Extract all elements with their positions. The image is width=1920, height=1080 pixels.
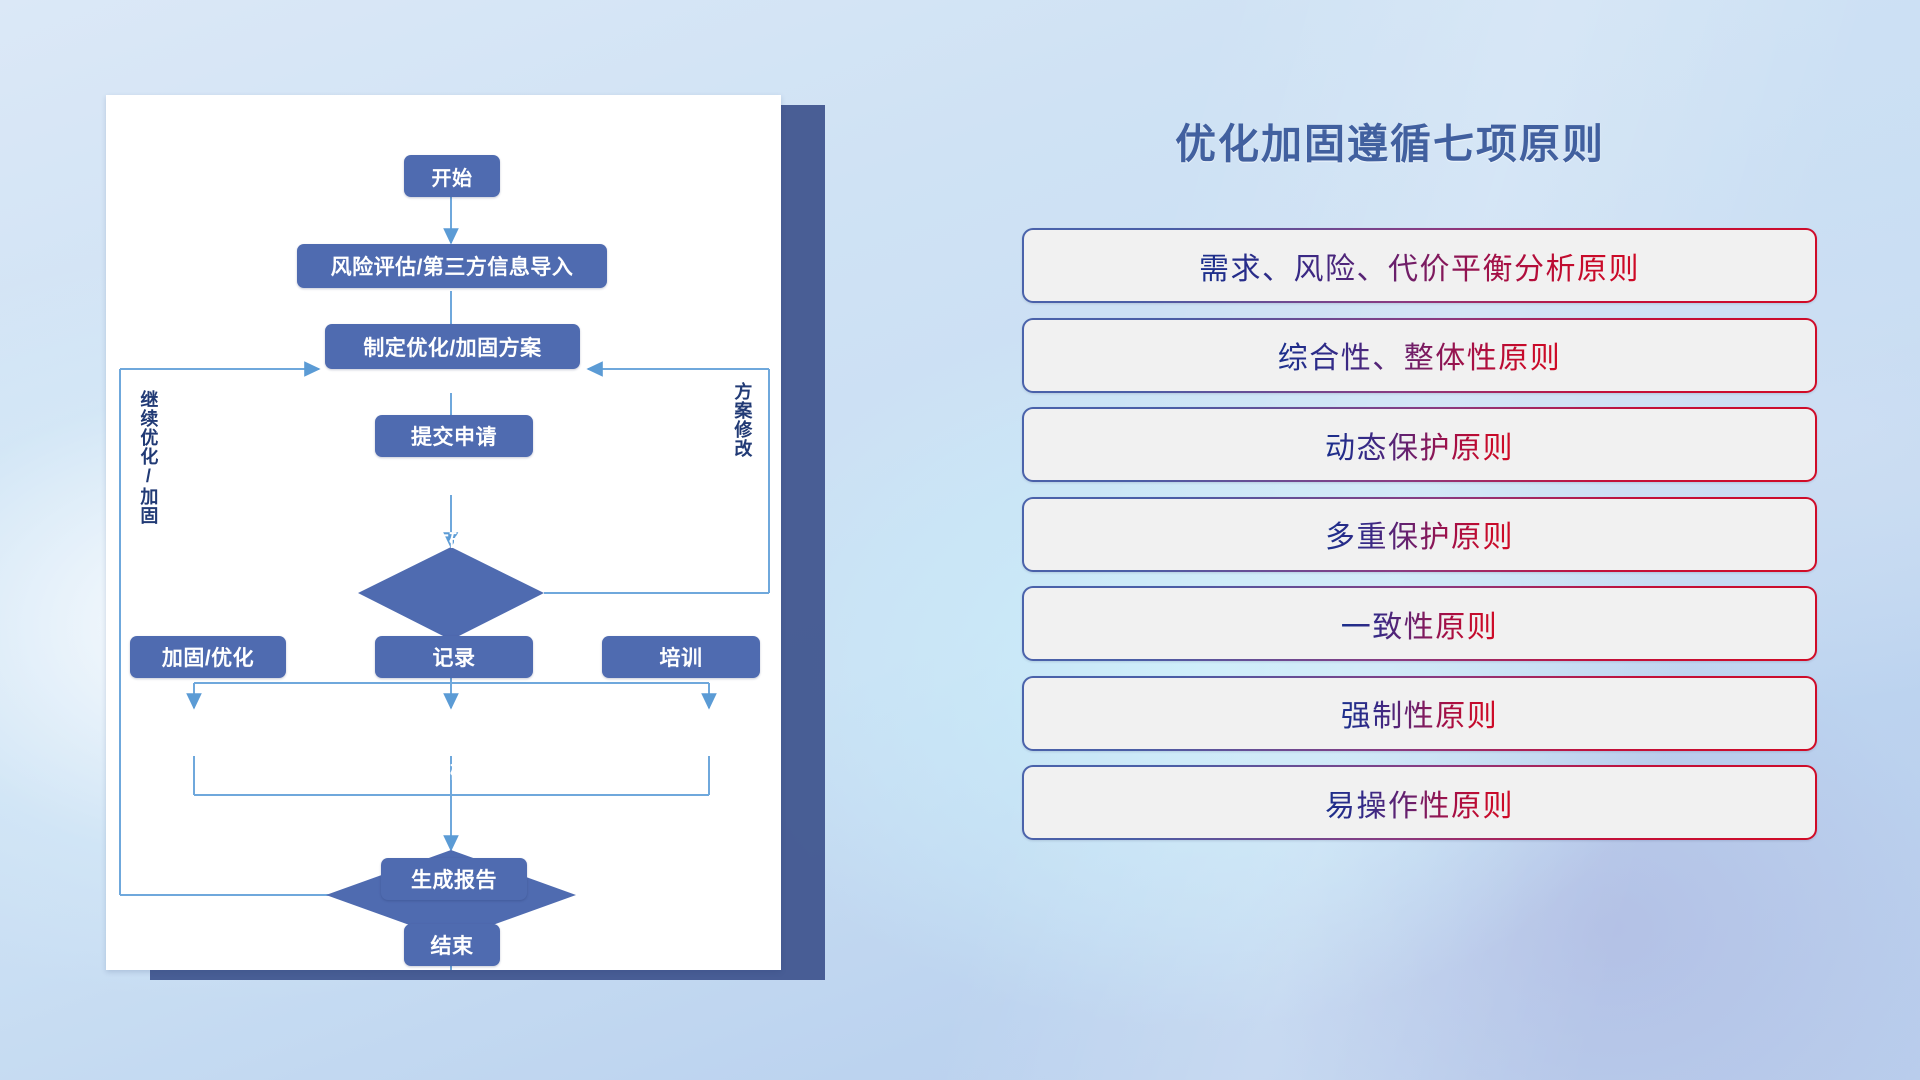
principle-item-5-label: 一致性原则 bbox=[1341, 602, 1499, 646]
principle-item-1[interactable]: 需求、风险、代价平衡分析原则 bbox=[1022, 228, 1817, 303]
principle-item-1-box: 需求、风险、代价平衡分析原则 bbox=[1024, 230, 1815, 301]
principle-item-3[interactable]: 动态保护原则 bbox=[1022, 407, 1817, 482]
flow-node-end-label: 结束 bbox=[431, 930, 474, 960]
flow-node-record[interactable]: 记录 bbox=[375, 636, 533, 678]
flow-node-start[interactable]: 开始 bbox=[404, 155, 500, 197]
flow-edge-label-continue-optimize: 继续优化/加固 bbox=[139, 390, 157, 540]
principle-item-1-label: 需求、风险、代价平衡分析原则 bbox=[1199, 244, 1640, 288]
principle-item-7-label: 易操作性原则 bbox=[1325, 781, 1514, 825]
flow-node-submit[interactable]: 提交申请 bbox=[375, 415, 533, 457]
flow-node-owner-confirm[interactable]: 业主方确认 bbox=[345, 523, 535, 557]
flow-node-reinforce-label: 加固/优化 bbox=[162, 642, 254, 672]
principle-item-5[interactable]: 一致性原则 bbox=[1022, 586, 1817, 661]
flow-node-plan-label: 制定优化/加固方案 bbox=[363, 332, 541, 362]
flow-node-end[interactable]: 结束 bbox=[404, 924, 500, 966]
flow-node-start-label: 开始 bbox=[432, 162, 473, 191]
principle-item-6-label: 强制性原则 bbox=[1341, 691, 1499, 735]
flow-node-check-confirm-label: 检查确认 bbox=[414, 759, 486, 785]
flow-node-submit-label: 提交申请 bbox=[411, 421, 497, 451]
flow-edge-label-plan-revision: 方案修改 bbox=[733, 382, 751, 487]
flow-node-risk-assessment-label: 风险评估/第三方信息导入 bbox=[331, 251, 574, 281]
principle-item-3-label: 动态保护原则 bbox=[1325, 423, 1514, 467]
flow-node-risk-assessment[interactable]: 风险评估/第三方信息导入 bbox=[297, 244, 607, 288]
flow-node-report-label: 生成报告 bbox=[411, 864, 497, 894]
principle-item-5-box: 一致性原则 bbox=[1024, 588, 1815, 659]
principle-item-3-box: 动态保护原则 bbox=[1024, 409, 1815, 480]
page-title: 优化加固遵循七项原则 bbox=[1040, 110, 1740, 170]
principle-item-7[interactable]: 易操作性原则 bbox=[1022, 765, 1817, 840]
principle-item-6[interactable]: 强制性原则 bbox=[1022, 676, 1817, 751]
flow-node-training-label: 培训 bbox=[660, 642, 703, 672]
principle-item-7-box: 易操作性原则 bbox=[1024, 767, 1815, 838]
principle-item-2[interactable]: 综合性、整体性原则 bbox=[1022, 318, 1817, 393]
principle-item-4[interactable]: 多重保护原则 bbox=[1022, 497, 1817, 572]
flow-node-owner-confirm-label: 业主方确认 bbox=[395, 527, 485, 553]
principles-list: 需求、风险、代价平衡分析原则 综合性、整体性原则 动态保护原则 多重保护原则 一… bbox=[1022, 228, 1817, 855]
principle-item-2-box: 综合性、整体性原则 bbox=[1024, 320, 1815, 391]
principle-item-4-box: 多重保护原则 bbox=[1024, 499, 1815, 570]
flow-node-reinforce[interactable]: 加固/优化 bbox=[130, 636, 286, 678]
diamond-owner-confirm bbox=[358, 547, 544, 640]
principle-item-6-box: 强制性原则 bbox=[1024, 678, 1815, 749]
flow-node-plan[interactable]: 制定优化/加固方案 bbox=[325, 324, 580, 369]
flow-node-record-label: 记录 bbox=[433, 642, 476, 672]
principle-item-4-label: 多重保护原则 bbox=[1325, 512, 1514, 556]
flow-node-check-confirm[interactable]: 检查确认 bbox=[355, 755, 545, 789]
flow-node-report[interactable]: 生成报告 bbox=[381, 858, 527, 900]
flow-node-training[interactable]: 培训 bbox=[602, 636, 760, 678]
principle-item-2-label: 综合性、整体性原则 bbox=[1278, 333, 1562, 377]
